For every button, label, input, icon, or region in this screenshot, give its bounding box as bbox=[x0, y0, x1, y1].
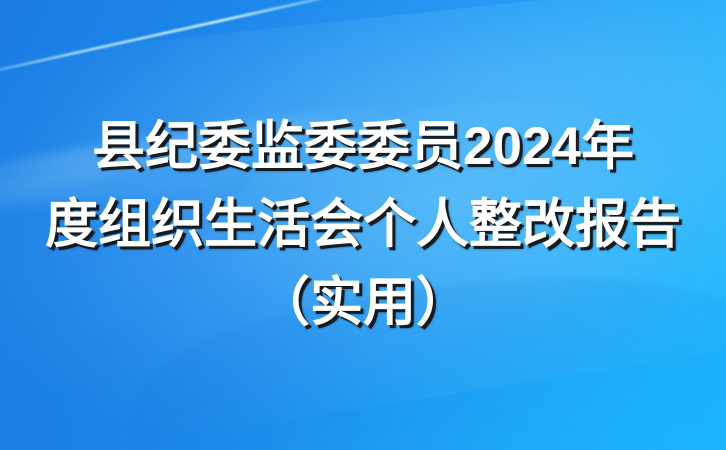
banner-title-line-1: 县纪委监委委员2024年 bbox=[92, 108, 634, 186]
banner-title-line-2: 度组织生活会个人整改报告 bbox=[45, 186, 681, 264]
title-banner: 县纪委监委委员2024年 度组织生活会个人整改报告 （实用） bbox=[0, 0, 726, 450]
banner-title-line-3: （实用） bbox=[257, 264, 469, 342]
banner-title-block: 县纪委监委委员2024年 度组织生活会个人整改报告 （实用） bbox=[0, 0, 726, 450]
